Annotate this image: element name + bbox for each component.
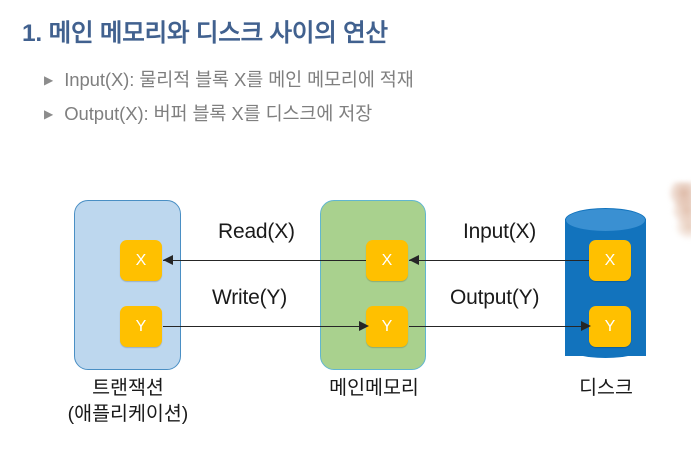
arrow-input-head-icon bbox=[409, 255, 419, 265]
bullet-triangle-icon: ▶ bbox=[44, 74, 53, 86]
transaction-block-y: Y bbox=[120, 306, 162, 347]
transaction-block-x: X bbox=[120, 240, 162, 281]
bullet-triangle-icon: ▶ bbox=[44, 108, 53, 120]
disk-cylinder-top bbox=[565, 208, 646, 232]
arrow-output-head-icon bbox=[581, 321, 591, 331]
arrow-read-line bbox=[163, 260, 368, 261]
bullet-item-output: ▶ Output(X): 버퍼 블록 X를 디스크에 저장 bbox=[44, 100, 372, 126]
arrow-read-head-icon bbox=[163, 255, 173, 265]
diagram: X Y X Y X Y Read(X) Write(Y) Input(X) Ou… bbox=[0, 150, 691, 472]
caption-transaction-line2: (애플리케이션) bbox=[48, 402, 208, 428]
bullet-text: Input(X): 물리적 블록 X를 메인 메모리에 적재 bbox=[64, 66, 413, 92]
disk-block-x: X bbox=[589, 240, 631, 281]
disk-block-y: Y bbox=[589, 306, 631, 347]
bullet-text: Output(X): 버퍼 블록 X를 디스크에 저장 bbox=[64, 100, 372, 126]
caption-transaction: 트랜잭션 (애플리케이션) bbox=[48, 376, 208, 427]
arrow-label-output: Output(Y) bbox=[450, 286, 539, 310]
arrow-label-read: Read(X) bbox=[218, 220, 295, 244]
caption-main-memory: 메인메모리 bbox=[318, 376, 430, 402]
caption-transaction-line1: 트랜잭션 bbox=[48, 376, 208, 402]
main-memory-block-x: X bbox=[366, 240, 408, 281]
arrow-label-input: Input(X) bbox=[463, 220, 536, 244]
page-title: 1. 메인 메모리와 디스크 사이의 연산 bbox=[22, 14, 388, 49]
arrow-write-line bbox=[163, 326, 368, 327]
bullet-item-input: ▶ Input(X): 물리적 블록 X를 메인 메모리에 적재 bbox=[44, 66, 414, 92]
blurred-hand-overlay bbox=[663, 182, 691, 244]
arrow-write-head-icon bbox=[359, 321, 369, 331]
arrow-output-line bbox=[409, 326, 591, 327]
slide-canvas: 1. 메인 메모리와 디스크 사이의 연산 ▶ Input(X): 물리적 블록… bbox=[0, 0, 691, 472]
caption-disk: 디스크 bbox=[565, 376, 647, 402]
main-memory-block-y: Y bbox=[366, 306, 408, 347]
arrow-label-write: Write(Y) bbox=[212, 286, 287, 310]
arrow-input-line bbox=[409, 260, 591, 261]
